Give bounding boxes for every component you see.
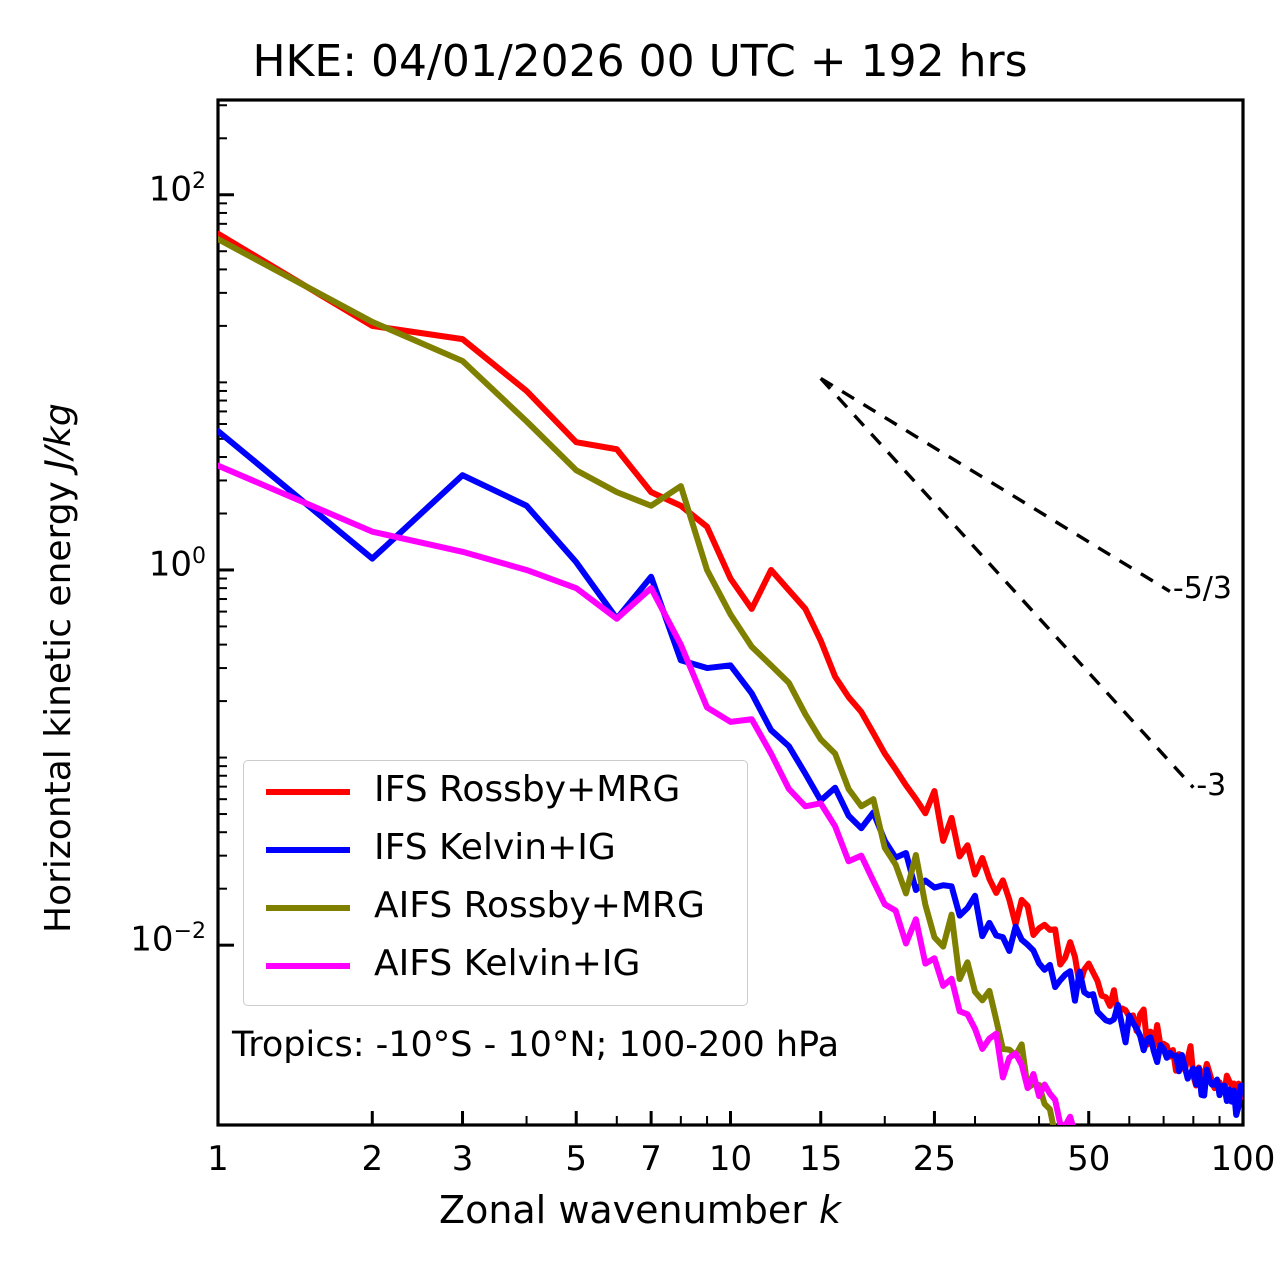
legend-swatch-line bbox=[266, 963, 350, 969]
legend-swatch-line bbox=[266, 847, 350, 853]
slope-guide-line-five-thirds bbox=[821, 378, 1170, 591]
x-tick-label: 3 bbox=[403, 1139, 523, 1179]
x-tick-label: 25 bbox=[874, 1139, 994, 1179]
region-annotation: Tropics: -10°S - 10°N; 100-200 hPa bbox=[232, 1025, 839, 1065]
y-tick-label: 100 bbox=[66, 544, 206, 584]
x-tick-label: 15 bbox=[761, 1139, 881, 1179]
legend-swatch-line bbox=[266, 905, 350, 911]
legend-box[interactable]: IFS Rossby+MRG IFS Kelvin+IG AIFS Rossby… bbox=[243, 760, 748, 1006]
legend-swatch-line bbox=[266, 789, 350, 795]
legend-entry: AIFS Rossby+MRG bbox=[244, 881, 747, 935]
legend-entry: IFS Kelvin+IG bbox=[244, 823, 747, 877]
slope-guide-label: -5/3 bbox=[1173, 571, 1232, 606]
x-tick-label: 1 bbox=[158, 1139, 278, 1179]
slope-guide-label: -3 bbox=[1196, 768, 1226, 803]
series-line-aifs-rossby-mrg[interactable] bbox=[218, 239, 1106, 1236]
x-tick-label: 100 bbox=[1183, 1139, 1280, 1179]
y-tick-label: 102 bbox=[66, 169, 206, 209]
legend-entry-label: IFS Rossby+MRG bbox=[374, 769, 680, 810]
y-tick-label: 10−2 bbox=[66, 919, 206, 959]
x-tick-label: 50 bbox=[1029, 1139, 1149, 1179]
slope-guide-line-three bbox=[821, 378, 1194, 787]
legend-entry-label: AIFS Kelvin+IG bbox=[374, 943, 640, 984]
figure-root: HKE: 04/01/2026 00 UTC + 192 hrs Horizon… bbox=[0, 0, 1280, 1288]
legend-entry: AIFS Kelvin+IG bbox=[244, 939, 747, 993]
legend-entry-label: IFS Kelvin+IG bbox=[374, 827, 616, 868]
legend-entry-label: AIFS Rossby+MRG bbox=[374, 885, 705, 926]
legend-entry: IFS Rossby+MRG bbox=[244, 765, 747, 819]
